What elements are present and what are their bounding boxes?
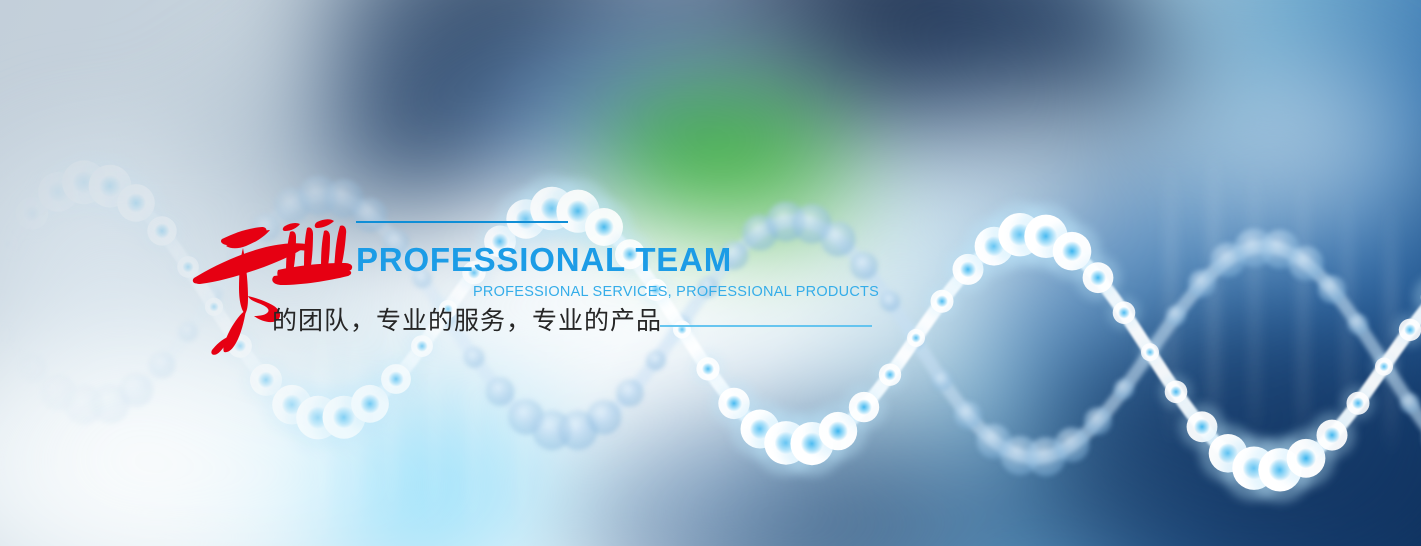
subtitle: PROFESSIONAL SERVICES, PROFESSIONAL PROD… bbox=[473, 285, 879, 300]
banner-text-block: PROFESSIONAL TEAM PROFESSIONAL SERVICES,… bbox=[0, 0, 1421, 546]
divider-line-top bbox=[356, 221, 568, 223]
hero-banner: PROFESSIONAL TEAM PROFESSIONAL SERVICES,… bbox=[0, 0, 1421, 546]
page-title: PROFESSIONAL TEAM bbox=[356, 243, 732, 276]
divider-line-bottom bbox=[660, 325, 872, 327]
chinese-tagline: 的团队，专业的服务，专业的产品 bbox=[272, 306, 662, 336]
